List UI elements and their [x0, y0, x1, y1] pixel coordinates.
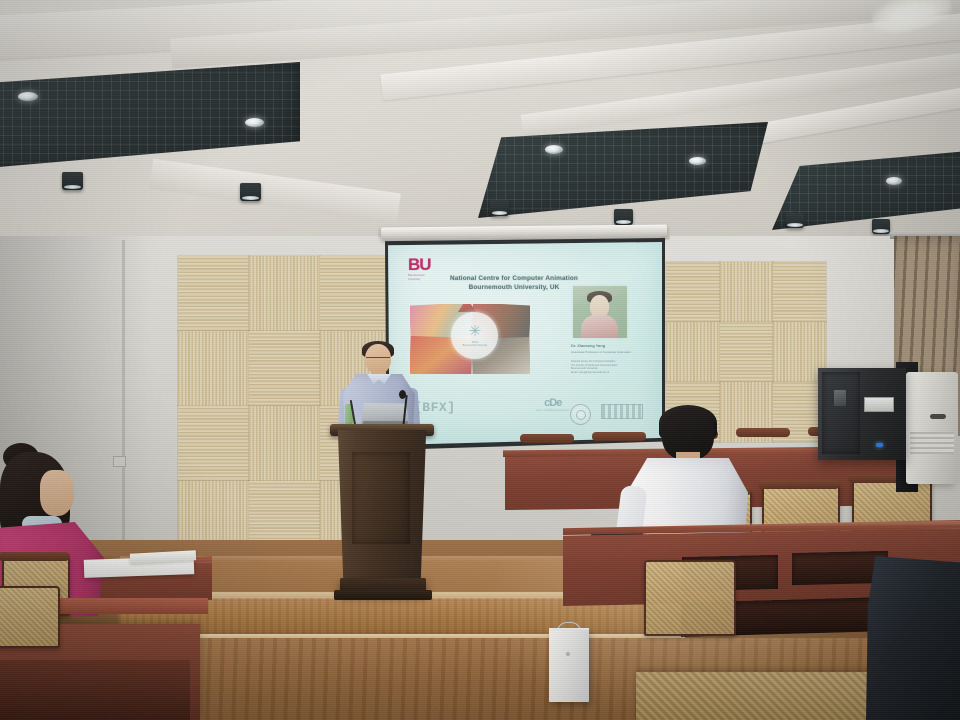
chair-foreground-left[interactable]: [0, 586, 60, 648]
ceiling-grid-panel: [478, 122, 768, 218]
bag-grommet: [566, 652, 570, 656]
podium-front-panel: [352, 452, 410, 544]
collage-center-caption: NCCA Bournemouth University: [456, 342, 494, 348]
lecture-hall-photo: BU Bournemouth University National Centr…: [0, 0, 960, 720]
audience-woman-face: [40, 470, 74, 516]
recessed-light: [18, 92, 38, 101]
chair-front-row[interactable]: [644, 560, 736, 636]
air-conditioner-control[interactable]: [930, 414, 946, 419]
chair-back-rail: [592, 432, 646, 441]
air-conditioner-vent: [910, 432, 954, 454]
av-rack-handle[interactable]: [834, 390, 846, 406]
cylinder-downlight: [614, 209, 633, 225]
circular-partner-logo: [570, 404, 591, 425]
microphone-icon[interactable]: [399, 390, 406, 399]
chair-foreground-weave: [636, 672, 886, 720]
recessed-light: [886, 177, 902, 185]
ceiling-beam: [149, 159, 401, 224]
coat-on-chair[interactable]: [866, 556, 960, 720]
slide-title-line-1: National Centre for Computer Animation: [440, 274, 588, 283]
speaker-headshot: [573, 286, 627, 338]
cylinder-downlight: [62, 172, 83, 190]
speaker-name: Dr. Xiaosong Yang: [571, 343, 633, 348]
slide-image-collage: ✳ NCCA Bournemouth University: [410, 304, 530, 374]
projected-slide: BU Bournemouth University National Centr…: [388, 242, 662, 445]
cylinder-downlight: [786, 213, 804, 228]
cylinder-downlight: [872, 219, 890, 234]
recessed-light: [689, 157, 706, 165]
bu-logo-subtext-1: Bournemouth: [408, 274, 440, 277]
wall-corner: [122, 240, 125, 570]
desk-foreground-lower: [0, 660, 190, 720]
bfx-logo: [BFX]: [414, 400, 456, 415]
ceiling-grid-panel: [0, 62, 300, 172]
recessed-light: [545, 145, 563, 154]
headshot-body: [581, 315, 618, 338]
ncca-star-icon: ✳: [467, 324, 483, 340]
bu-logo-subtext-2: University: [408, 278, 440, 281]
light-switch-plate[interactable]: [113, 456, 126, 467]
speaker-affiliation: National Centre for Computer Animation T…: [571, 360, 637, 374]
collage-caption-line-2: Bournemouth University: [456, 345, 494, 348]
av-rack-door[interactable]: [822, 372, 860, 454]
podium-plinth: [334, 590, 432, 600]
eyeglasses-icon: [366, 357, 390, 363]
cde-logo: cDe Centre for Digital Entertainment: [536, 398, 569, 412]
ceiling: [0, 0, 960, 250]
air-conditioner: [906, 372, 958, 484]
cylinder-downlight: [490, 200, 509, 216]
slide-title-line-2: Bournemouth University, UK: [440, 283, 588, 292]
chair-back-rail: [736, 428, 790, 437]
shopping-bag[interactable]: [549, 630, 589, 702]
speaker-role: Associate Professor of Computer Animatio…: [571, 350, 637, 354]
recessed-light: [245, 118, 264, 127]
chair-crest-rail: [758, 480, 840, 489]
chair-crest-rail: [0, 552, 70, 561]
cde-logo-mark: cDe: [536, 398, 569, 409]
bu-logo-mark: BU: [408, 256, 440, 273]
status-led: [876, 443, 883, 447]
av-rack-label: [864, 397, 894, 412]
rectangular-partner-logo: [601, 404, 643, 419]
slide-title: National Centre for Computer Animation B…: [440, 274, 588, 292]
chair-back-rail: [520, 434, 574, 443]
cde-logo-subtext: Centre for Digital Entertainment: [536, 409, 569, 412]
bu-logo: BU Bournemouth University: [408, 256, 440, 282]
cylinder-downlight: [240, 183, 261, 201]
affiliation-line-4: Email: xyang@bournemouth.ac.uk: [571, 371, 637, 375]
